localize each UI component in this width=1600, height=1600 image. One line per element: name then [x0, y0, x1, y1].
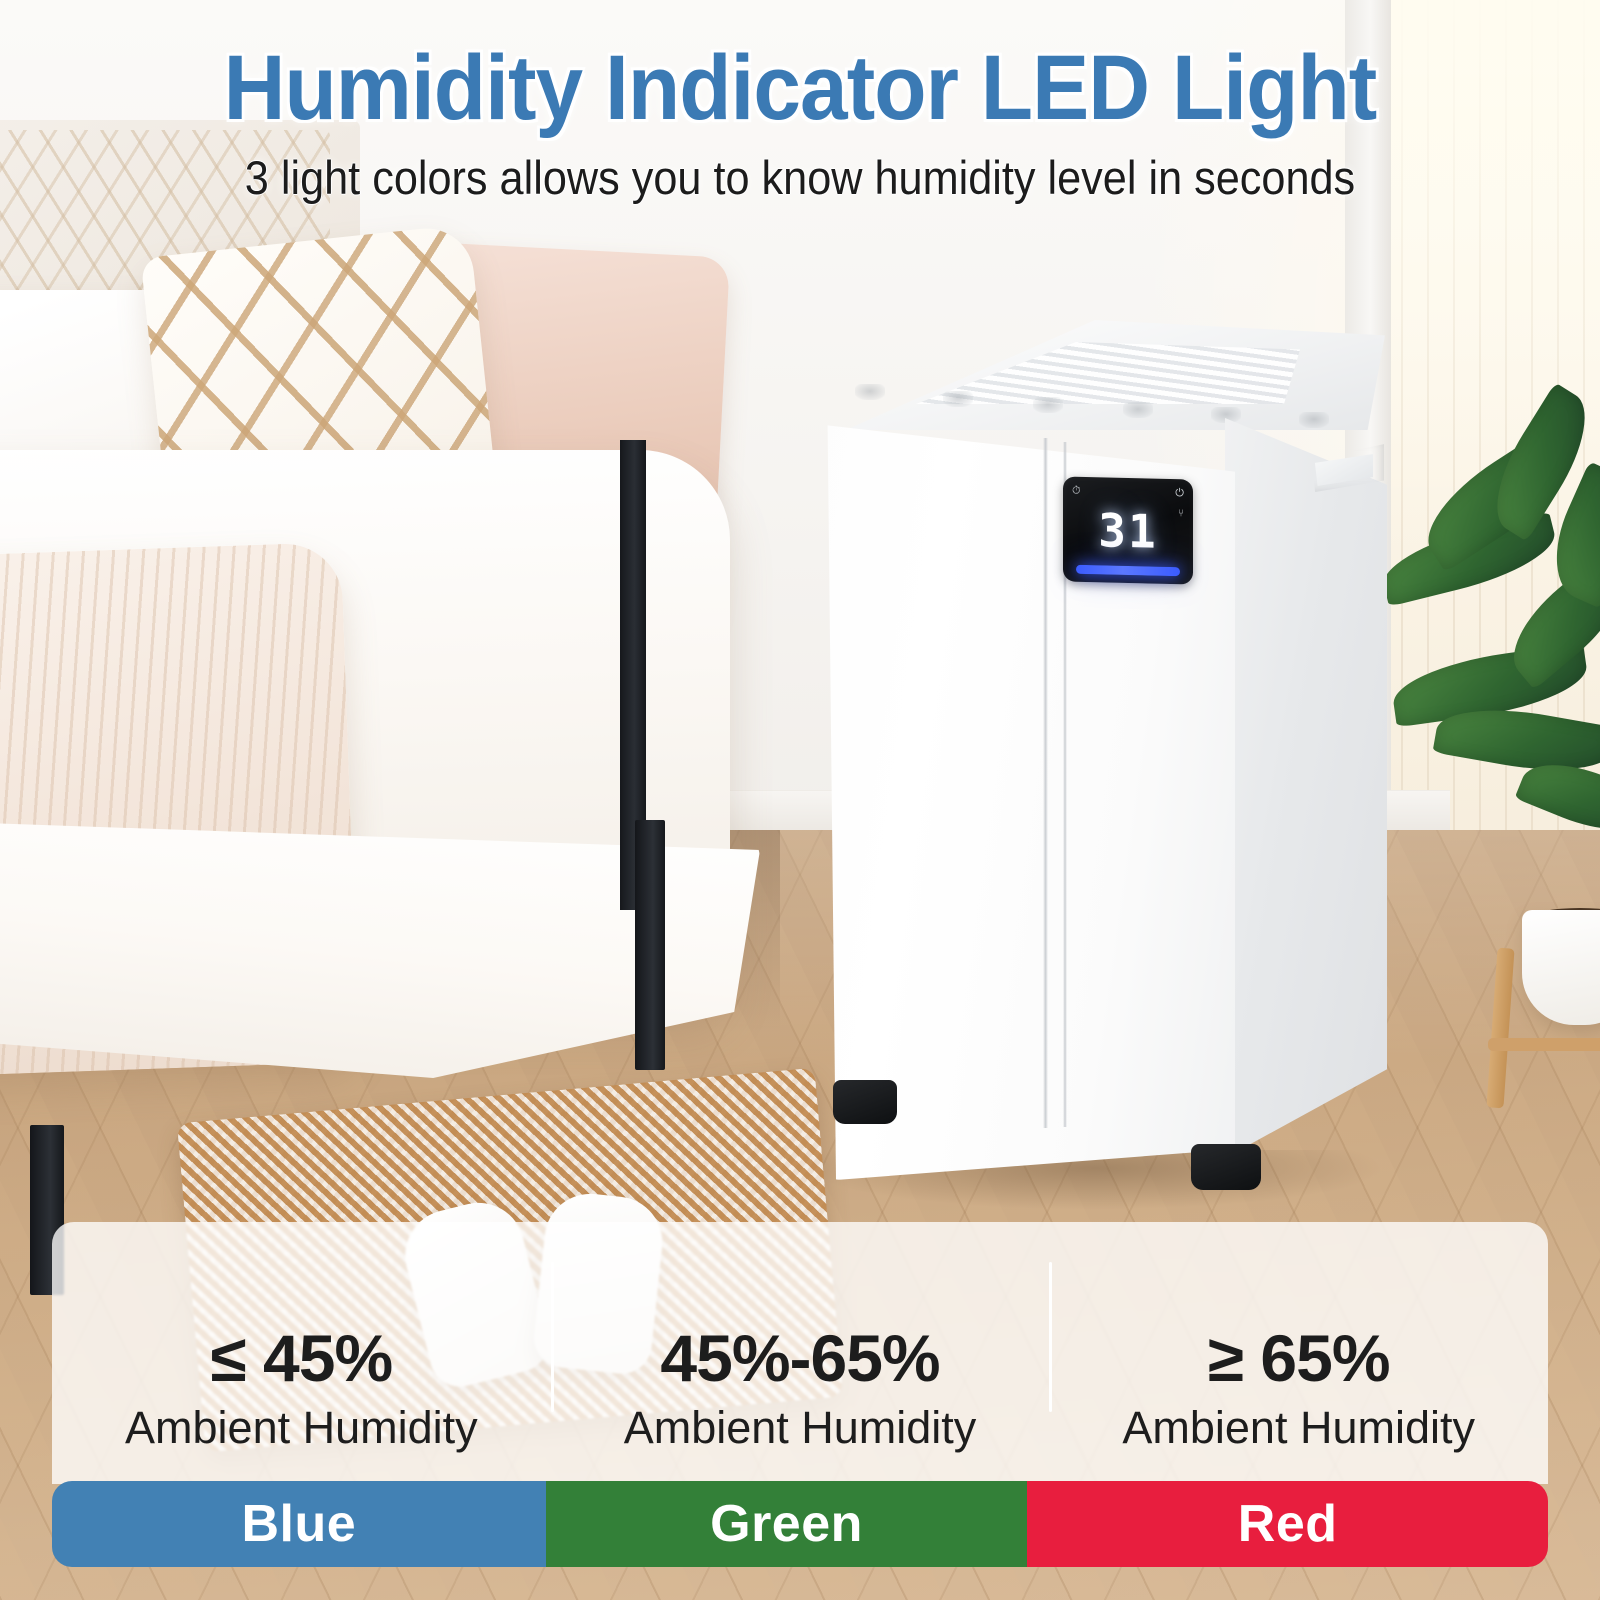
led-display-panel[interactable]: ⏱ ⏻ ⑂ 31 — [1063, 476, 1193, 584]
humidity-down-button[interactable] — [1123, 402, 1153, 418]
control-button-row[interactable] — [855, 382, 1335, 426]
stat-label: Ambient Humidity — [1122, 1405, 1475, 1450]
mode-button[interactable] — [943, 391, 973, 407]
timer-icon: ⏱ — [1072, 486, 1081, 497]
stat-column-blue: ≤ 45% Ambient Humidity — [52, 1222, 551, 1484]
stat-value: ≤ 45% — [211, 1325, 393, 1391]
header: Humidity Indicator LED Light 3 light col… — [0, 0, 1600, 204]
product-infographic: ⏱ ⏻ ⑂ 31 Humidity Indicator LED Light 3 … — [0, 0, 1600, 1600]
humidity-indicator-led-bar — [1076, 565, 1180, 577]
stat-label: Ambient Humidity — [624, 1405, 977, 1450]
timer-button[interactable] — [1299, 412, 1329, 428]
bed-leg-back — [635, 820, 665, 1070]
humidity-up-button[interactable] — [1033, 397, 1063, 413]
caster-wheel — [1191, 1144, 1261, 1190]
legend-segment-green: Green — [546, 1481, 1028, 1567]
caster-wheel — [833, 1080, 897, 1124]
power-icon: ⏻ — [1175, 488, 1184, 499]
led-color-legend-bar: Blue Green Red — [52, 1481, 1548, 1567]
power-button[interactable] — [855, 384, 885, 400]
dehumidifier: ⏱ ⏻ ⑂ 31 — [795, 320, 1395, 1200]
stat-column-red: ≥ 65% Ambient Humidity — [1049, 1222, 1548, 1484]
stat-value: 45%-65% — [660, 1325, 939, 1391]
humidity-reading: 31 — [1063, 502, 1193, 559]
plant-pot — [1522, 910, 1600, 1025]
unit-side-panel — [1225, 418, 1387, 1158]
page-subtitle: 3 light colors allows you to know humidi… — [64, 152, 1536, 204]
stat-label: Ambient Humidity — [125, 1405, 478, 1450]
humidity-range-panel: ≤ 45% Ambient Humidity 45%-65% Ambient H… — [52, 1222, 1548, 1484]
plant-stand-bar — [1488, 1038, 1600, 1051]
bed — [0, 120, 750, 1130]
stat-column-green: 45%-65% Ambient Humidity — [551, 1222, 1050, 1484]
panel-seam — [1043, 438, 1048, 1128]
page-title: Humidity Indicator LED Light — [56, 42, 1544, 134]
legend-segment-blue: Blue — [52, 1481, 546, 1567]
potted-plant — [1370, 440, 1600, 1060]
stat-value: ≥ 65% — [1208, 1325, 1390, 1391]
legend-segment-red: Red — [1027, 1481, 1548, 1567]
